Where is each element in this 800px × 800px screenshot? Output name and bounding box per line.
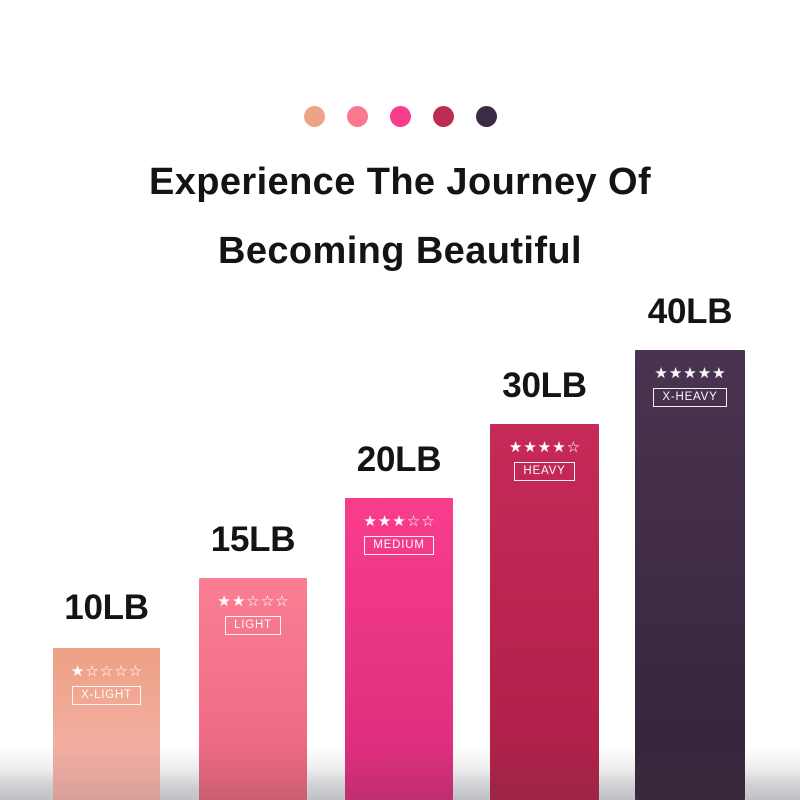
star-filled-icon: ★ (363, 514, 376, 529)
star-filled-icon: ★ (509, 440, 522, 455)
bar-weight-label: 15LB (211, 522, 295, 557)
star-empty-icon: ☆ (275, 594, 288, 609)
bar-content: ★☆☆☆☆X-LIGHT (53, 664, 160, 705)
star-rating: ★★★☆☆ (363, 514, 434, 529)
star-filled-icon: ★ (683, 366, 696, 381)
swatch-dot-5 (476, 106, 497, 127)
headline-line-1: Experience The Journey Of (149, 161, 651, 203)
star-filled-icon: ★ (552, 440, 565, 455)
bar-content: ★★★☆☆MEDIUM (345, 514, 453, 555)
strength-badge: MEDIUM (364, 536, 433, 555)
star-rating: ★★★★☆ (509, 440, 580, 455)
page-title: Experience The Journey Of Becoming Beaut… (0, 148, 800, 286)
headline-line-2: Becoming Beautiful (0, 217, 800, 286)
bar-column: ★★★☆☆MEDIUM (345, 498, 453, 800)
bar-weight-label: 10LB (64, 590, 148, 625)
star-empty-icon: ☆ (567, 440, 580, 455)
strength-badge: X-LIGHT (72, 686, 141, 705)
star-empty-icon: ☆ (100, 664, 113, 679)
strength-badge: LIGHT (225, 616, 281, 635)
swatch-dot-1 (304, 106, 325, 127)
star-filled-icon: ★ (654, 366, 667, 381)
bar-column: ★★★★☆HEAVY (490, 424, 599, 800)
star-filled-icon: ★ (523, 440, 536, 455)
star-empty-icon: ☆ (114, 664, 127, 679)
bar-weight-label: 40LB (648, 294, 732, 329)
star-filled-icon: ★ (232, 594, 245, 609)
star-filled-icon: ★ (392, 514, 405, 529)
bar-content: ★★★★★X-HEAVY (635, 366, 745, 407)
star-filled-icon: ★ (669, 366, 682, 381)
star-filled-icon: ★ (712, 366, 725, 381)
star-filled-icon: ★ (378, 514, 391, 529)
star-rating: ★★☆☆☆ (217, 594, 288, 609)
star-filled-icon: ★ (538, 440, 551, 455)
bar-content: ★★☆☆☆LIGHT (199, 594, 307, 635)
bar-column: ★★☆☆☆LIGHT (199, 578, 307, 800)
star-empty-icon: ☆ (246, 594, 259, 609)
swatch-dot-3 (390, 106, 411, 127)
star-empty-icon: ☆ (407, 514, 420, 529)
star-rating: ★☆☆☆☆ (71, 664, 142, 679)
star-filled-icon: ★ (698, 366, 711, 381)
poster-canvas: Experience The Journey Of Becoming Beaut… (0, 0, 800, 800)
swatch-dot-2 (347, 106, 368, 127)
star-filled-icon: ★ (71, 664, 84, 679)
star-filled-icon: ★ (217, 594, 230, 609)
strength-badge: HEAVY (514, 462, 574, 481)
star-empty-icon: ☆ (421, 514, 434, 529)
swatch-dot-4 (433, 106, 454, 127)
star-rating: ★★★★★ (654, 366, 725, 381)
star-empty-icon: ☆ (129, 664, 142, 679)
bar-weight-label: 30LB (502, 368, 586, 403)
bar-column: ★★★★★X-HEAVY (635, 350, 745, 800)
color-swatch-dots (0, 106, 800, 127)
bar-column: ★☆☆☆☆X-LIGHT (53, 648, 160, 800)
star-empty-icon: ☆ (261, 594, 274, 609)
bar-content: ★★★★☆HEAVY (490, 440, 599, 481)
star-empty-icon: ☆ (85, 664, 98, 679)
strength-badge: X-HEAVY (653, 388, 726, 407)
bar-weight-label: 20LB (357, 442, 441, 477)
